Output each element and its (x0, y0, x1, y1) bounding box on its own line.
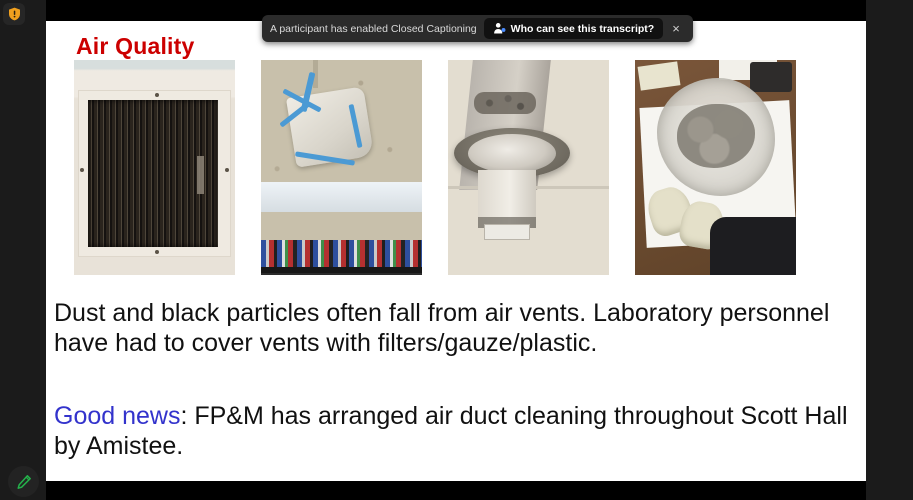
ceiling-light-panel (261, 182, 422, 212)
good-news-keyword: Good news (54, 402, 180, 430)
annotate-pencil-button[interactable] (8, 466, 39, 497)
shelf-edge (261, 267, 422, 273)
close-icon[interactable]: × (663, 22, 689, 35)
vent-screw (155, 250, 159, 254)
vent-screw (80, 168, 84, 172)
shared-slide: Air Quality (46, 21, 866, 481)
duct-box (478, 170, 536, 228)
photo-dirty-vent-grille (74, 60, 235, 275)
vent-frame (78, 90, 231, 257)
left-toolbar-rail (0, 0, 46, 500)
closed-captioning-notification: A participant has enabled Closed Caption… (262, 15, 693, 42)
duct-grime (474, 92, 536, 114)
binder-row (261, 240, 422, 267)
vent-screw (225, 168, 229, 172)
photo-round-diffuser-stuffed (448, 60, 609, 275)
shield-warning-icon[interactable] (3, 3, 25, 25)
ceiling-tile (261, 212, 422, 240)
right-gutter (866, 0, 913, 500)
page-title: Air Quality (76, 33, 195, 60)
slide-good-news-line: Good news: FP&M has arranged air duct cl… (54, 402, 866, 461)
who-can-see-transcript-button[interactable]: Who can see this transcript? (484, 18, 664, 39)
diffuser-plastic-stuffing (468, 134, 556, 173)
vent-screw (155, 93, 159, 97)
zoom-screen-share-window: Air Quality (0, 0, 913, 500)
notification-message: A participant has enabled Closed Caption… (270, 23, 484, 35)
photo-strip (74, 60, 840, 275)
bookshelf (261, 240, 422, 275)
dusty-wipes (677, 104, 755, 168)
photo-bag-of-dust-and-gloves (635, 60, 796, 275)
photo-ceiling-vent-bagged (261, 60, 422, 275)
chair (710, 217, 796, 275)
pencil-icon (16, 474, 32, 490)
duct-access-panel (484, 224, 530, 240)
vent-louvers (88, 100, 218, 247)
who-can-see-transcript-label: Who can see this transcript? (511, 23, 655, 35)
person-icon (493, 22, 506, 35)
desk-clutter (750, 62, 792, 92)
slide-body-text: Dust and black particles often fall from… (54, 299, 866, 358)
